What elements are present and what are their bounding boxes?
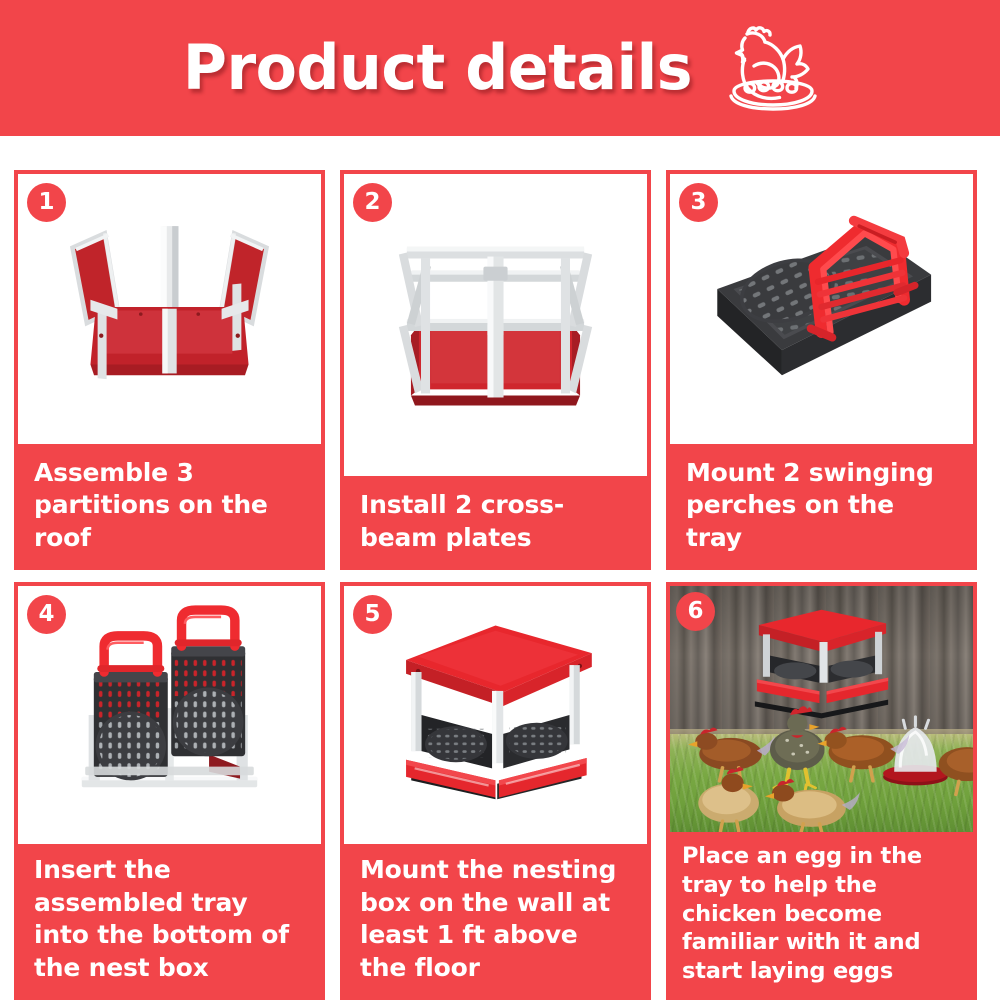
nesting-box-base-illustration — [18, 174, 321, 444]
step-panel-5: 5 — [340, 582, 651, 1000]
step-panel-6: 6 — [666, 582, 977, 1000]
assembled-nesting-box-illustration — [344, 586, 647, 844]
step-2-image: 2 — [344, 174, 647, 476]
step-panel-1: 1 — [14, 170, 325, 570]
step-number-badge-1: 1 — [27, 183, 66, 222]
step-3-image: 3 — [670, 174, 973, 444]
step-number-badge-3: 3 — [679, 183, 718, 222]
perforated-tray-with-perch-illustration — [670, 174, 973, 444]
step-caption-4: Insert the assembled tray into the botto… — [18, 844, 321, 996]
chicken-yard-photo — [670, 586, 973, 832]
step-caption-1: Assemble 3 partitions on the roof — [18, 444, 321, 567]
step-number-badge-2: 2 — [353, 183, 392, 222]
scene-objects — [670, 586, 973, 832]
step-number-badge-4: 4 — [27, 595, 66, 634]
step-panel-2: 2 — [340, 170, 651, 570]
step-panel-4: 4 — [14, 582, 325, 1000]
step-panel-3: 3 — [666, 170, 977, 570]
trays-inserted-in-frame-illustration — [18, 586, 321, 844]
step-number-badge-6: 6 — [676, 592, 715, 631]
step-5-image: 5 — [344, 586, 647, 844]
page-header: Product details — [0, 0, 1000, 136]
page-title: Product details — [182, 37, 691, 99]
step-6-image: 6 — [670, 586, 973, 832]
hen-on-nest-icon — [721, 18, 825, 114]
step-caption-6: Place an egg in the tray to help the chi… — [670, 832, 973, 996]
step-1-image: 1 — [18, 174, 321, 444]
step-caption-2: Install 2 cross-beam plates — [344, 476, 647, 566]
steps-grid: 1 — [14, 170, 986, 1000]
cross-beam-frame-illustration — [344, 174, 647, 476]
step-4-image: 4 — [18, 586, 321, 844]
step-number-badge-5: 5 — [353, 595, 392, 634]
step-caption-3: Mount 2 swinging perches on the tray — [670, 444, 973, 567]
step-caption-5: Mount the nesting box on the wall at lea… — [344, 844, 647, 996]
